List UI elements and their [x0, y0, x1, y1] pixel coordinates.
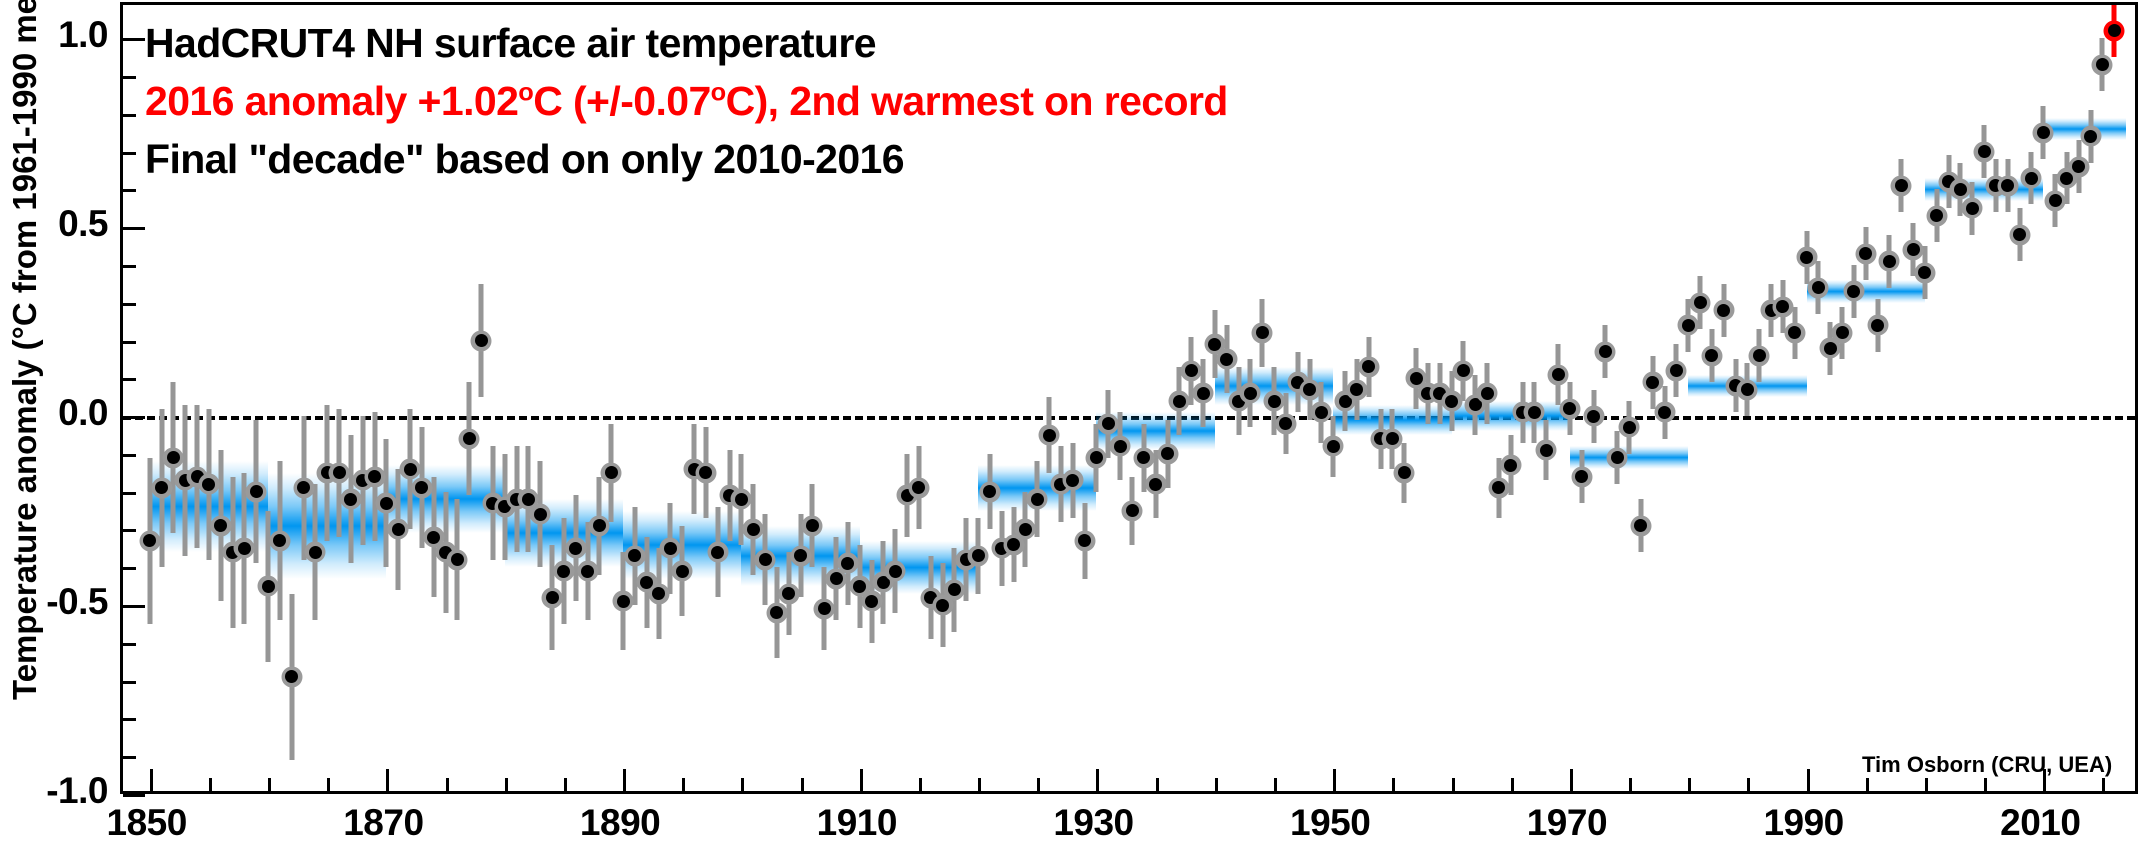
- data-point-core: [1623, 421, 1636, 434]
- data-point: [601, 462, 622, 483]
- data-point-core: [1575, 470, 1588, 483]
- data-point-core: [1007, 538, 1020, 551]
- data-point-core: [1587, 410, 1600, 423]
- data-point-core: [1410, 372, 1423, 385]
- y-minor-tick: [123, 378, 136, 381]
- x-minor-tick: [978, 778, 981, 791]
- data-point-core: [1386, 432, 1399, 445]
- x-tick-label: 1990: [1763, 802, 1843, 844]
- x-major-tick: [386, 769, 389, 791]
- data-point: [163, 447, 184, 468]
- data-point-core: [2096, 58, 2109, 71]
- x-axis-tick-labels: 185018701890191019301950197019902010: [0, 802, 2141, 862]
- y-minor-tick: [123, 492, 136, 495]
- data-point: [1488, 477, 1509, 498]
- data-point: [1110, 436, 1131, 457]
- data-point-core: [1208, 338, 1221, 351]
- data-point-core: [735, 493, 748, 506]
- data-point: [329, 462, 350, 483]
- data-point-core: [1244, 387, 1257, 400]
- y-major-tick: [123, 38, 145, 41]
- data-point-core: [1776, 300, 1789, 313]
- data-point-core: [770, 606, 783, 619]
- data-point: [1015, 519, 1036, 540]
- data-point: [376, 493, 397, 514]
- data-point: [1867, 315, 1888, 336]
- data-point-core: [806, 519, 819, 532]
- data-point-core: [2013, 228, 2026, 241]
- data-point-core: [557, 565, 570, 578]
- x-minor-tick: [682, 778, 685, 791]
- x-tick-label: 1930: [1053, 802, 1133, 844]
- data-point: [1701, 345, 1722, 366]
- data-point: [269, 530, 290, 551]
- data-point-core: [238, 542, 251, 555]
- data-point-core: [1528, 406, 1541, 419]
- data-point-core: [2025, 172, 2038, 185]
- data-point: [2092, 54, 2113, 75]
- data-point: [1548, 364, 1569, 385]
- data-point: [2068, 156, 2089, 177]
- data-point-core: [936, 599, 949, 612]
- data-point: [814, 598, 835, 619]
- data-point-core: [1268, 395, 1281, 408]
- data-point-core: [143, 534, 156, 547]
- x-tick-label: 1870: [343, 802, 423, 844]
- data-point-core: [546, 591, 559, 604]
- data-point-core: [1043, 429, 1056, 442]
- y-major-tick: [123, 416, 145, 419]
- data-point-core: [628, 549, 641, 562]
- data-point-core: [155, 481, 168, 494]
- data-point: [305, 542, 326, 563]
- data-point: [1181, 360, 1202, 381]
- data-point: [1027, 489, 1048, 510]
- x-major-tick: [150, 769, 153, 791]
- data-point: [1145, 474, 1166, 495]
- data-point-core: [262, 580, 275, 593]
- data-point-core: [1102, 417, 1115, 430]
- x-minor-tick: [741, 778, 744, 791]
- y-minor-tick: [123, 718, 136, 721]
- data-point-core: [711, 546, 724, 559]
- data-point-core: [1717, 304, 1730, 317]
- data-point: [577, 561, 598, 582]
- data-point-core: [1350, 383, 1363, 396]
- x-minor-tick: [1274, 778, 1277, 791]
- data-point: [1086, 447, 1107, 468]
- data-point-core: [699, 466, 712, 479]
- data-point: [1240, 383, 1261, 404]
- y-minor-tick: [123, 265, 136, 268]
- data-point: [1571, 466, 1592, 487]
- data-point-core: [309, 546, 322, 559]
- data-point-core: [1481, 387, 1494, 400]
- data-point-core: [1256, 326, 1269, 339]
- data-point-core: [759, 553, 772, 566]
- data-point: [1358, 356, 1379, 377]
- data-point-core: [522, 493, 535, 506]
- data-point-2016: [2104, 20, 2125, 41]
- data-point: [1311, 402, 1332, 423]
- data-point-core: [2108, 24, 2121, 37]
- data-point: [139, 530, 160, 551]
- data-point-core: [1871, 319, 1884, 332]
- anno2-mid: C (+/-0.07: [533, 78, 710, 124]
- y-tick-label: 0.0: [58, 392, 108, 434]
- data-point-core: [534, 508, 547, 521]
- data-point: [837, 553, 858, 574]
- data-point-core: [1800, 251, 1813, 264]
- data-point-core: [1398, 466, 1411, 479]
- x-minor-tick: [1925, 778, 1928, 791]
- data-point-core: [1197, 387, 1210, 400]
- data-point-core: [676, 565, 689, 578]
- data-point: [1477, 383, 1498, 404]
- data-point: [1157, 443, 1178, 464]
- data-point: [648, 583, 669, 604]
- x-minor-tick: [1747, 778, 1750, 791]
- y-minor-tick: [123, 76, 136, 79]
- data-point: [1903, 239, 1924, 260]
- data-point-core: [1847, 285, 1860, 298]
- data-point-core: [1611, 451, 1624, 464]
- data-point-core: [1552, 368, 1565, 381]
- data-point-core: [1019, 523, 1032, 536]
- data-point-core: [1859, 247, 1872, 260]
- x-minor-tick: [1984, 778, 1987, 791]
- x-major-tick: [860, 769, 863, 791]
- data-point-core: [1563, 402, 1576, 415]
- y-minor-tick: [123, 341, 136, 344]
- data-point: [459, 428, 480, 449]
- data-point-core: [2084, 130, 2097, 143]
- data-point-core: [1907, 243, 1920, 256]
- data-point-core: [250, 485, 263, 498]
- data-point-core: [782, 587, 795, 600]
- data-point-core: [1315, 406, 1328, 419]
- data-point-core: [368, 470, 381, 483]
- data-point-core: [1090, 451, 1103, 464]
- data-point-core: [865, 595, 878, 608]
- y-minor-tick: [123, 681, 136, 684]
- credit-text: Tim Osborn (CRU, UEA): [1862, 752, 2112, 778]
- data-point-core: [818, 602, 831, 615]
- data-point: [778, 583, 799, 604]
- y-axis-tick-labels: -1.0-0.50.00.51.0: [0, 0, 108, 794]
- x-major-tick: [1570, 769, 1573, 791]
- data-point: [1500, 455, 1521, 476]
- data-point-core: [1220, 353, 1233, 366]
- data-point: [613, 591, 634, 612]
- data-point-core: [463, 432, 476, 445]
- anno2-degree-2: o: [711, 78, 726, 106]
- x-major-tick: [1807, 769, 1810, 791]
- x-tick-label: 1890: [580, 802, 660, 844]
- data-point: [766, 602, 787, 623]
- data-point: [1275, 413, 1296, 434]
- data-point-core: [1457, 364, 1470, 377]
- data-point-core: [1161, 447, 1174, 460]
- data-point-core: [475, 334, 488, 347]
- data-point: [234, 538, 255, 559]
- data-point: [1062, 470, 1083, 491]
- data-point: [1950, 179, 1971, 200]
- annotation-line-3: Final "decade" based on only 2010-2016: [145, 136, 904, 183]
- data-point: [1536, 440, 1557, 461]
- data-point-core: [1173, 395, 1186, 408]
- data-point: [672, 561, 693, 582]
- y-minor-tick: [123, 454, 136, 457]
- data-point: [731, 489, 752, 510]
- data-point-core: [285, 670, 298, 683]
- data-point: [151, 477, 172, 498]
- data-point-core: [605, 466, 618, 479]
- data-point: [1216, 349, 1237, 370]
- data-point-core: [1966, 202, 1979, 215]
- data-point: [1394, 462, 1415, 483]
- x-major-tick: [1333, 769, 1336, 791]
- data-point-core: [1634, 519, 1647, 532]
- data-point: [968, 545, 989, 566]
- data-point: [1962, 198, 1983, 219]
- data-point-core: [1078, 534, 1091, 547]
- x-minor-tick: [1688, 778, 1691, 791]
- data-point: [802, 515, 823, 536]
- data-point-core: [1137, 451, 1150, 464]
- data-point: [1299, 379, 1320, 400]
- x-minor-tick: [446, 778, 449, 791]
- data-point-core: [972, 549, 985, 562]
- anno2-pre: 2016 anomaly +1.02: [145, 78, 518, 124]
- data-point: [258, 576, 279, 597]
- data-point-core: [1918, 266, 1931, 279]
- data-point-core: [333, 466, 346, 479]
- data-point: [1678, 315, 1699, 336]
- data-point: [1039, 425, 1060, 446]
- x-tick-label: 1950: [1290, 802, 1370, 844]
- data-point: [979, 481, 1000, 502]
- y-major-tick: [123, 794, 145, 797]
- data-point: [660, 538, 681, 559]
- y-minor-tick: [123, 189, 136, 192]
- data-point: [1974, 141, 1995, 162]
- data-point-core: [1978, 145, 1991, 158]
- data-point-core: [380, 497, 393, 510]
- data-point-core: [1031, 493, 1044, 506]
- x-tick-label: 2010: [2000, 802, 2080, 844]
- data-point: [411, 477, 432, 498]
- x-tick-label: 1970: [1527, 802, 1607, 844]
- data-point: [1855, 243, 1876, 264]
- data-point: [1122, 500, 1143, 521]
- data-point-core: [1705, 349, 1718, 362]
- data-point-core: [1185, 364, 1198, 377]
- data-point: [624, 545, 645, 566]
- data-point: [1749, 345, 1770, 366]
- data-point-core: [167, 451, 180, 464]
- data-point-core: [664, 542, 677, 555]
- data-point-core: [1504, 459, 1517, 472]
- x-minor-tick: [919, 778, 922, 791]
- data-point-core: [581, 565, 594, 578]
- data-point: [1879, 251, 1900, 272]
- y-minor-tick: [123, 114, 136, 117]
- data-point-core: [841, 557, 854, 570]
- data-point-core: [1149, 478, 1162, 491]
- x-minor-tick: [268, 778, 271, 791]
- data-point: [1630, 515, 1651, 536]
- data-point-core: [214, 519, 227, 532]
- data-point: [1453, 360, 1474, 381]
- y-major-tick: [123, 605, 145, 608]
- data-point: [1524, 402, 1545, 423]
- data-point: [695, 462, 716, 483]
- data-point: [1098, 413, 1119, 434]
- data-point-core: [451, 553, 464, 566]
- data-point: [1193, 383, 1214, 404]
- data-point-core: [1930, 209, 1943, 222]
- data-point: [364, 466, 385, 487]
- data-point: [1666, 360, 1687, 381]
- x-minor-tick: [1215, 778, 1218, 791]
- x-minor-tick: [1037, 778, 1040, 791]
- data-point-core: [297, 481, 310, 494]
- data-point-core: [427, 531, 440, 544]
- data-point: [2021, 168, 2042, 189]
- y-minor-tick: [123, 529, 136, 532]
- data-point-core: [617, 595, 630, 608]
- x-minor-tick: [801, 778, 804, 791]
- x-minor-tick: [327, 778, 330, 791]
- data-point-core: [652, 587, 665, 600]
- data-point-core: [889, 565, 902, 578]
- data-point: [1997, 175, 2018, 196]
- data-point-core: [1753, 349, 1766, 362]
- anno2-degree-1: o: [518, 78, 533, 106]
- data-point: [1642, 372, 1663, 393]
- data-point: [1619, 417, 1640, 438]
- data-point: [1772, 296, 1793, 317]
- x-minor-tick: [2102, 778, 2105, 791]
- anno2-post: C), 2nd warmest on record: [726, 78, 1228, 124]
- data-point-core: [1824, 342, 1837, 355]
- x-minor-tick: [1511, 778, 1514, 791]
- data-point-core: [1599, 345, 1612, 358]
- data-point: [2045, 190, 2066, 211]
- y-tick-label: 0.5: [58, 203, 108, 245]
- chart-figure: Temperature anomaly (°C from 1961-1990 m…: [0, 0, 2141, 865]
- data-point: [553, 561, 574, 582]
- data-point: [1323, 436, 1344, 457]
- data-point-core: [1492, 481, 1505, 494]
- data-point-core: [2049, 194, 2062, 207]
- y-minor-tick: [123, 152, 136, 155]
- data-point-core: [1646, 376, 1659, 389]
- data-point-core: [392, 523, 405, 536]
- data-point: [1654, 402, 1675, 423]
- annotation-line-2: 2016 anomaly +1.02oC (+/-0.07oC), 2nd wa…: [145, 78, 1228, 125]
- data-point: [281, 666, 302, 687]
- data-point: [340, 489, 361, 510]
- data-point: [1926, 205, 1947, 226]
- x-minor-tick: [1629, 778, 1632, 791]
- data-point-core: [1788, 326, 1801, 339]
- data-point: [707, 542, 728, 563]
- data-point-core: [415, 481, 428, 494]
- data-point: [447, 549, 468, 570]
- data-point-core: [1895, 179, 1908, 192]
- data-point: [1832, 322, 1853, 343]
- data-point: [1843, 281, 1864, 302]
- data-point: [1074, 530, 1095, 551]
- data-point: [2009, 224, 2030, 245]
- data-point-core: [1126, 504, 1139, 517]
- data-point: [2033, 122, 2054, 143]
- data-point-core: [1954, 183, 1967, 196]
- y-minor-tick: [123, 567, 136, 570]
- data-point: [293, 477, 314, 498]
- x-minor-tick: [564, 778, 567, 791]
- x-major-tick: [1096, 769, 1099, 791]
- data-point-core: [830, 572, 843, 585]
- data-point-core: [1836, 326, 1849, 339]
- data-point: [885, 561, 906, 582]
- data-point: [210, 515, 231, 536]
- data-point-core: [1812, 281, 1825, 294]
- data-point: [1607, 447, 1628, 468]
- data-point: [1808, 277, 1829, 298]
- data-point: [471, 330, 492, 351]
- annotation-line-1: HadCRUT4 NH surface air temperature: [145, 20, 876, 67]
- data-point-core: [569, 542, 582, 555]
- y-minor-tick: [123, 303, 136, 306]
- data-point: [1559, 398, 1580, 419]
- data-point: [1713, 300, 1734, 321]
- data-point-core: [1362, 360, 1375, 373]
- data-point-core: [983, 485, 996, 498]
- data-point-core: [853, 580, 866, 593]
- data-point-core: [273, 534, 286, 547]
- data-point: [1737, 379, 1758, 400]
- x-tick-label: 1850: [107, 802, 187, 844]
- data-point: [589, 515, 610, 536]
- data-point-core: [1327, 440, 1340, 453]
- data-point-core: [1114, 440, 1127, 453]
- y-tick-label: -0.5: [46, 581, 108, 623]
- x-minor-tick: [505, 778, 508, 791]
- data-point-core: [1694, 296, 1707, 309]
- y-major-tick: [123, 227, 145, 230]
- data-point: [542, 587, 563, 608]
- data-point-core: [2072, 160, 2085, 173]
- data-point: [1441, 391, 1462, 412]
- data-point: [1264, 391, 1285, 412]
- data-point: [1784, 322, 1805, 343]
- x-tick-label: 1910: [817, 802, 897, 844]
- data-point-core: [1279, 417, 1292, 430]
- data-point: [1583, 406, 1604, 427]
- data-point: [1382, 428, 1403, 449]
- y-minor-tick: [123, 643, 136, 646]
- data-point: [1796, 247, 1817, 268]
- data-point-core: [1445, 395, 1458, 408]
- data-point-core: [1066, 474, 1079, 487]
- data-point-core: [948, 583, 961, 596]
- data-point-core: [794, 549, 807, 562]
- data-point-core: [1682, 319, 1695, 332]
- data-point: [388, 519, 409, 540]
